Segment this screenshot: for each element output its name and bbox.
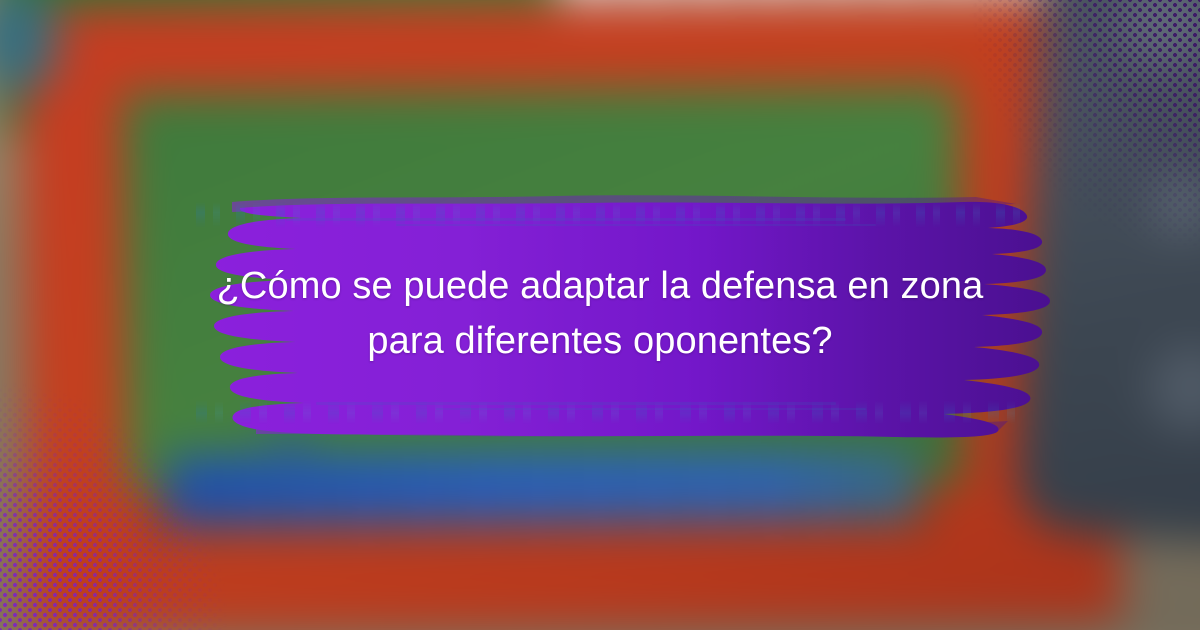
page-title: ¿Cómo se puede adaptar la defensa en zon… (160, 188, 1040, 440)
background-game-pieces (153, 490, 960, 541)
background-dark-object-highlights (1045, 0, 1200, 532)
social-card: ¿Cómo se puede adaptar la defensa en zon… (0, 0, 1200, 630)
